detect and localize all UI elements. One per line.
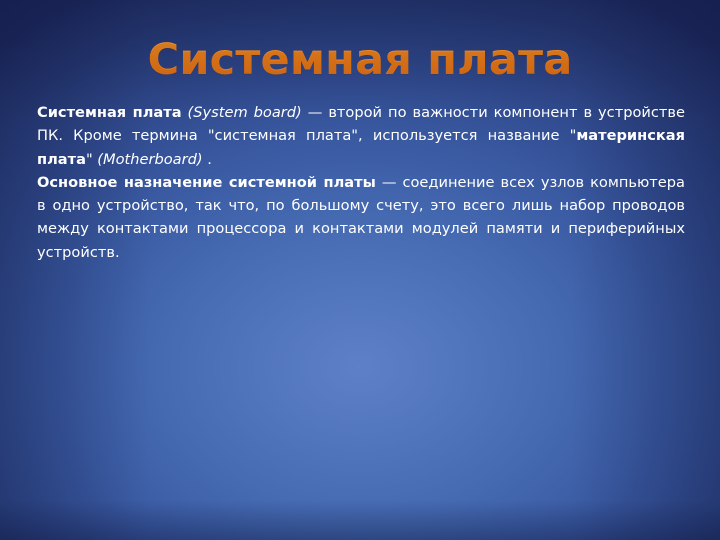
- page-title: Системная плата: [148, 38, 573, 83]
- term-system-board-english: (System board): [188, 104, 302, 121]
- slide-content: Системная плата Системная плата (System …: [0, 0, 720, 540]
- term-motherboard-english: (Motherboard): [97, 151, 202, 168]
- paragraph-purpose: Основное назначение системной платы — со…: [37, 171, 685, 264]
- slide-body-text: Системная плата (System board) — второй …: [37, 101, 685, 264]
- purpose-lead-bold: Основное назначение системной платы: [37, 174, 376, 191]
- term-system-board-bold: Системная плата: [37, 104, 182, 121]
- presentation-slide: Системная плата Системная плата (System …: [0, 0, 720, 540]
- slide-title-container: Системная плата: [0, 38, 720, 83]
- paragraph-definition: Системная плата (System board) — второй …: [37, 101, 685, 171]
- quote-close: ": [86, 151, 97, 168]
- definition-tail: .: [203, 151, 212, 168]
